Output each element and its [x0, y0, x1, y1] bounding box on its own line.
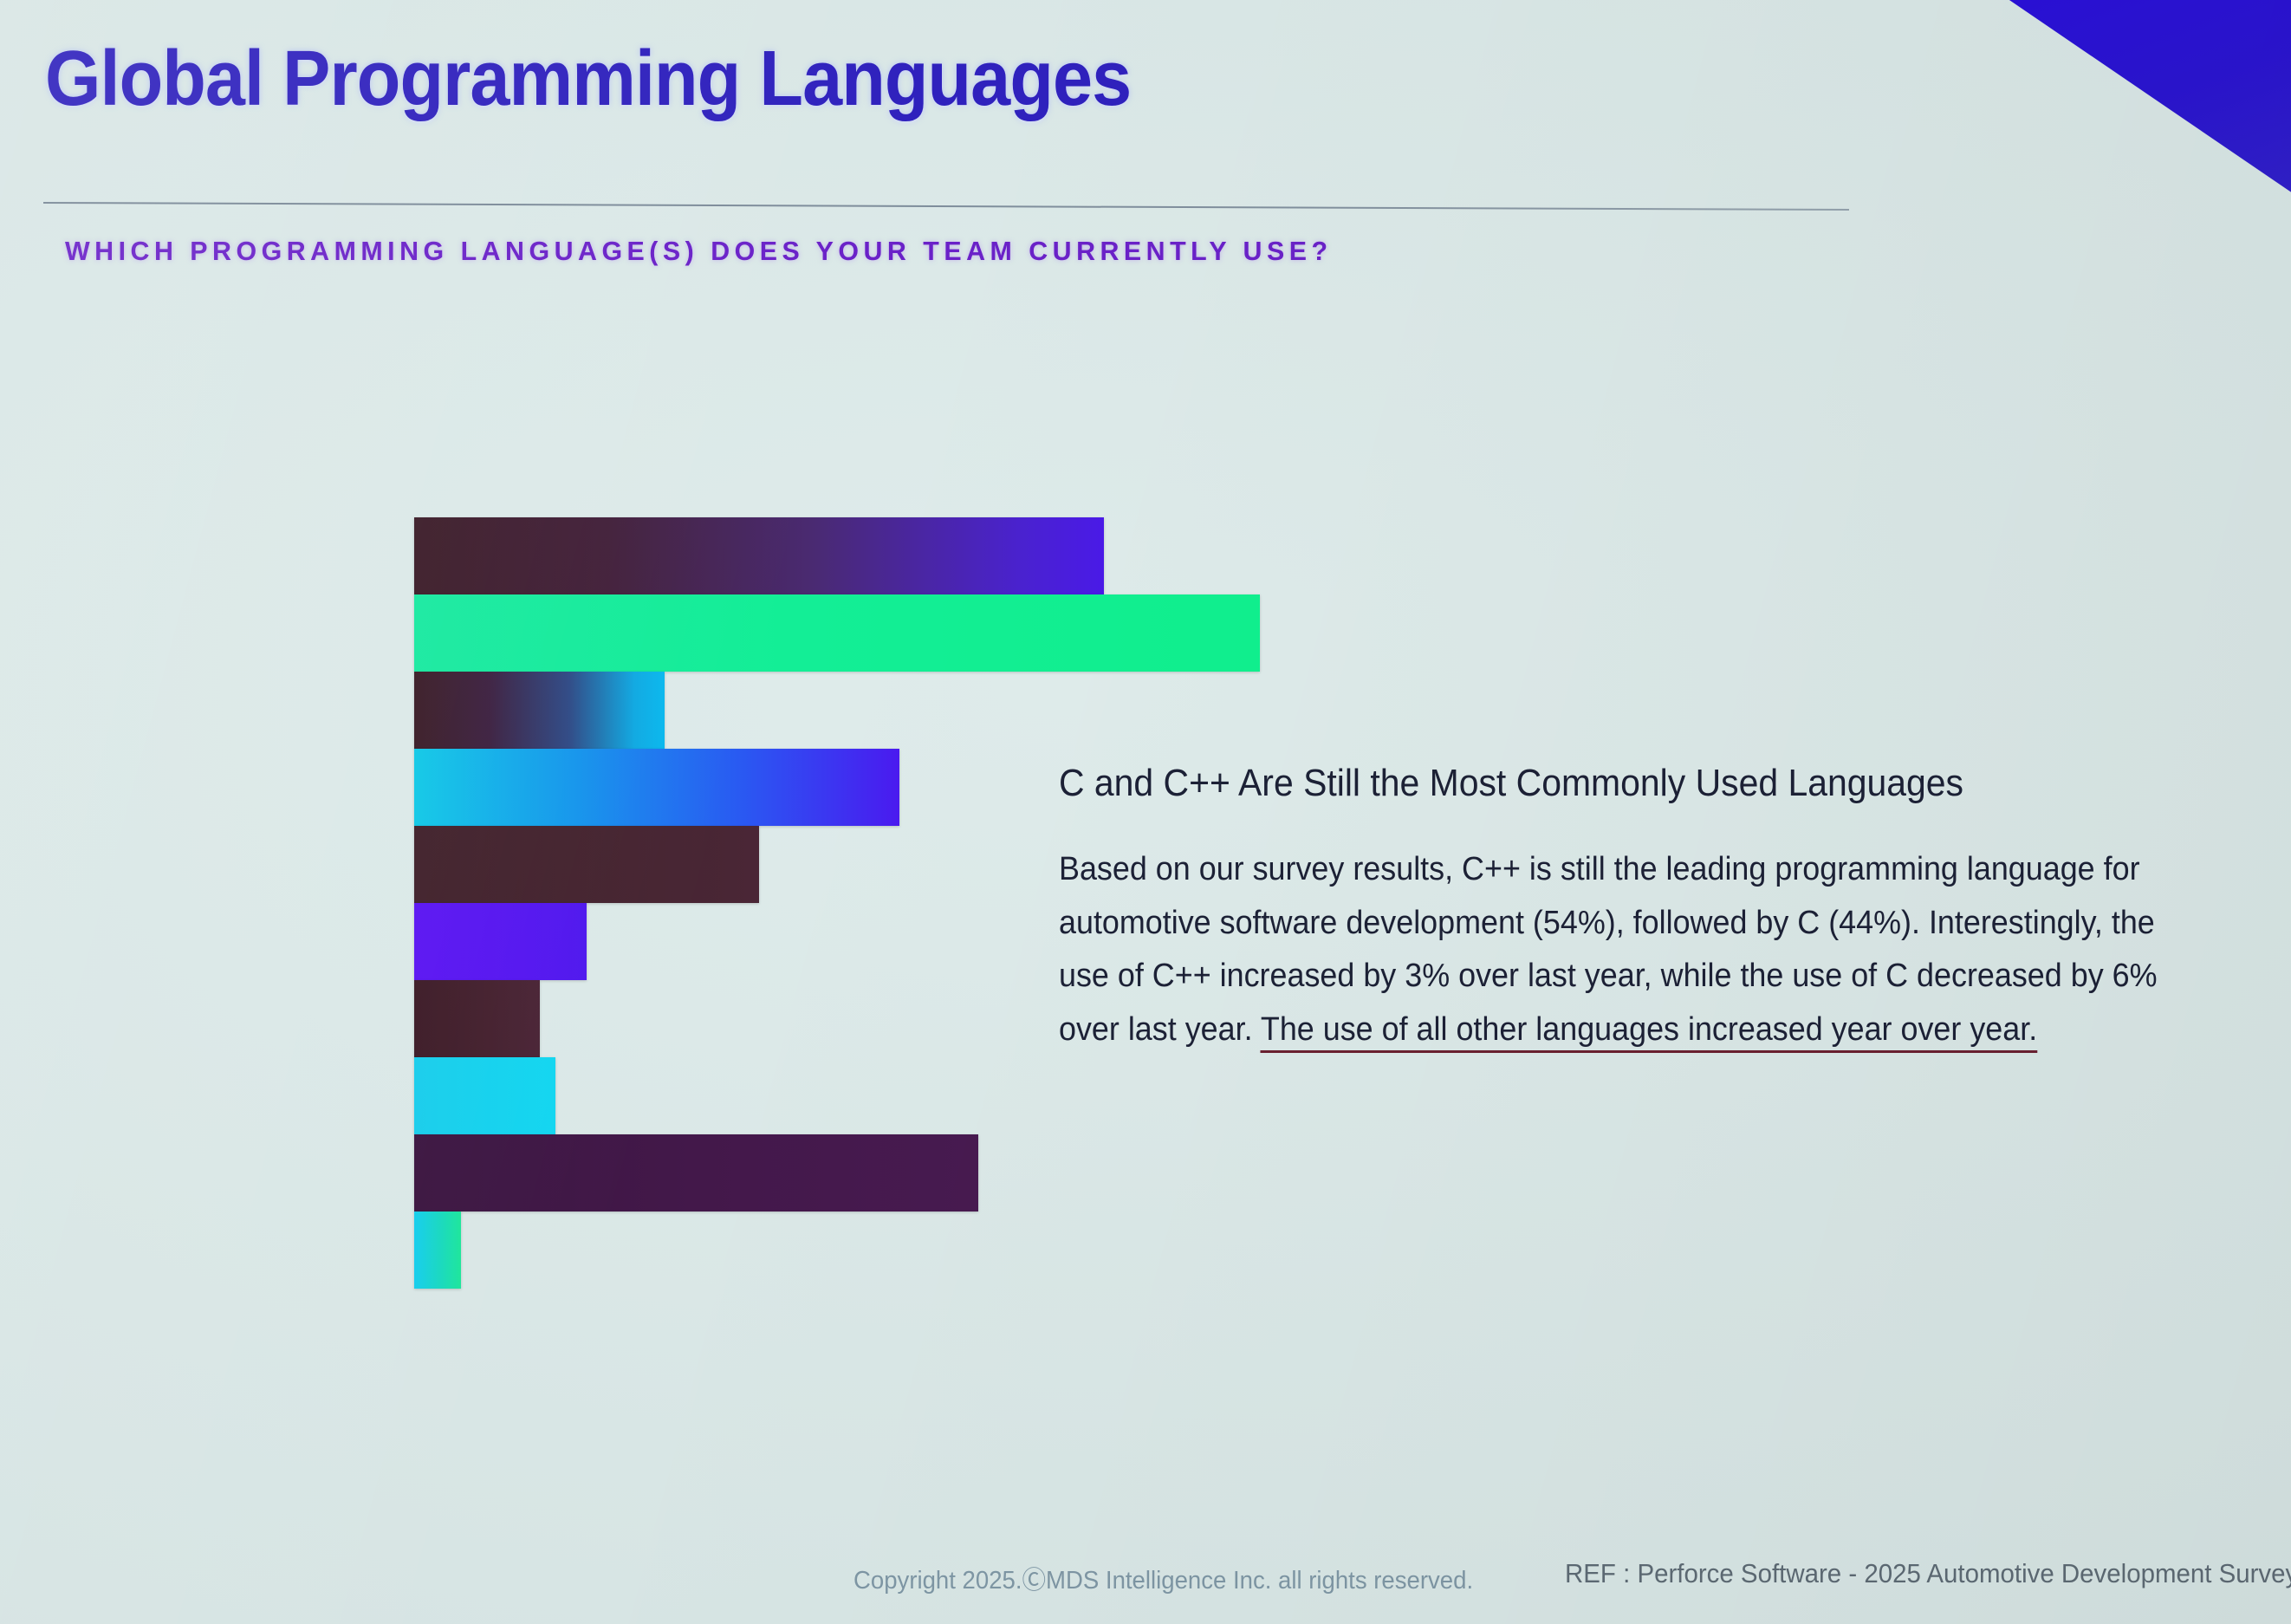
insight-heading: C and C++ Are Still the Most Commonly Us… [1059, 762, 2106, 805]
bar-c- [414, 594, 1260, 672]
bar-go-golang [414, 980, 540, 1057]
bar-other [414, 1212, 461, 1289]
bar-kotlin [414, 903, 587, 980]
bar-rust [414, 1057, 555, 1134]
copyright-text: Copyright 2025.ⒸMDS Intelligence Inc. al… [853, 1560, 1473, 1596]
bar-javascript [414, 826, 759, 903]
slide-canvas: Global Programming Languages WHICH PROGR… [0, 0, 2291, 1624]
corner-accent-triangle [2007, 0, 2291, 193]
bar-java [414, 749, 899, 826]
title-divider [43, 202, 1849, 211]
bar-python [414, 1134, 978, 1212]
bar-c [414, 517, 1104, 594]
reference-text: REF : Perforce Software - 2025 Automotiv… [1565, 1558, 2291, 1589]
insight-panel: C and C++ Are Still the Most Commonly Us… [1059, 762, 2185, 1056]
insight-body: Based on our survey results, C++ is stil… [1059, 843, 2181, 1056]
insight-body-underlined: The use of all other languages increased… [1261, 1011, 2037, 1053]
page-subtitle: WHICH PROGRAMMING LANGUAGE(S) DOES YOUR … [65, 236, 1333, 267]
bar-c- [414, 672, 665, 749]
page-title: Global Programming Languages [45, 35, 1131, 124]
